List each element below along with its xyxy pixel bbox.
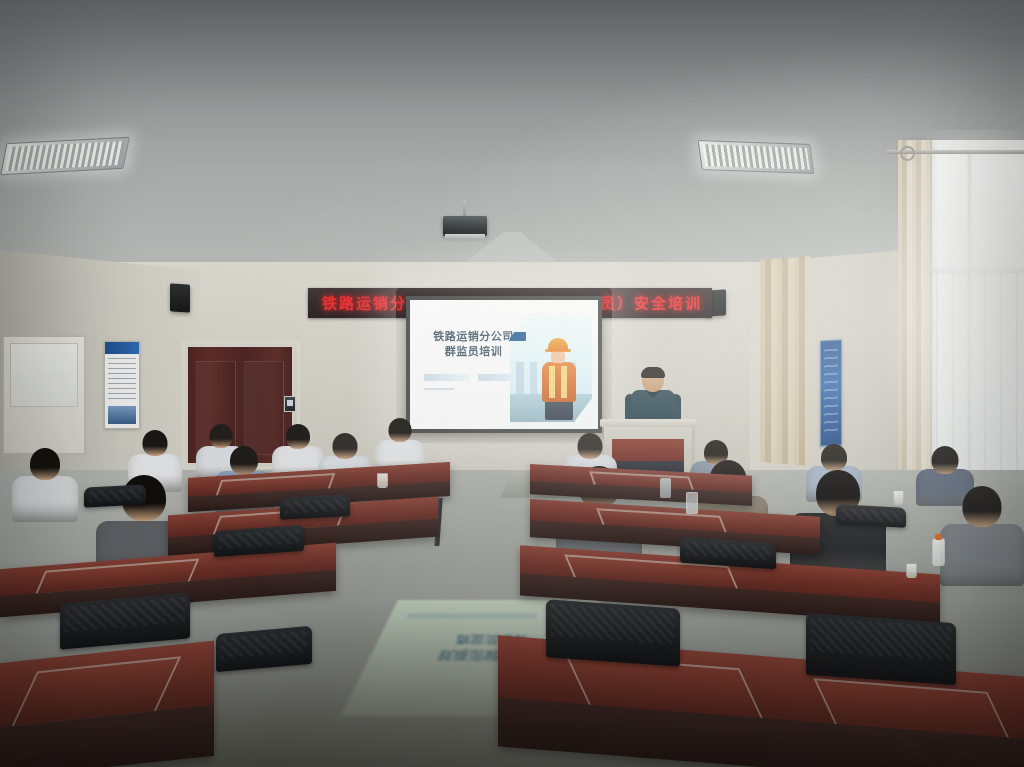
person-torso [940,524,1024,586]
chair[interactable] [280,494,350,520]
worker-legs [545,400,573,420]
person-head [963,486,1002,527]
wall-speaker-left [170,283,190,312]
wall-notice-poster [104,341,140,429]
training-room-photo: 铁路运销分 员）安全培训 铁路运销分公司 群监员培训 [0,0,1024,767]
audience-person [940,486,1024,586]
chair[interactable] [836,504,906,528]
ceiling-light-left [0,137,130,175]
chair[interactable] [546,599,680,666]
worker-vest-stripe-right [561,366,567,398]
worker-helmet [548,338,568,351]
blue-roll-up-banner [820,339,842,446]
ceiling-light-right [698,140,815,174]
slide-rule [424,388,454,390]
chair[interactable] [84,484,146,507]
worker-body [542,362,576,402]
presentation-slide: 铁路运销分公司 群监员培训 [410,300,598,429]
person-head [821,444,847,471]
worker-face [551,351,565,363]
podium-red-band [612,439,684,461]
person-head [286,424,310,449]
person-head [143,430,168,456]
poster-header [105,342,139,354]
person-head [932,446,959,474]
person-head [389,418,412,442]
chair[interactable] [806,613,956,685]
poster-image [108,406,136,424]
reflection-chip [406,613,537,619]
worker-vest-stripe-left [549,366,555,398]
audience-person [12,448,78,522]
curtain-ring [900,146,915,161]
slide-illustration [510,314,592,422]
person-torso [12,476,78,522]
paper-cup [377,473,388,488]
slide-chip-1 [424,374,470,381]
podium-top [600,419,696,427]
curtain-far-right [760,256,810,466]
presenter-hair [641,367,665,378]
worker-figure [536,336,582,420]
thermos-flask [660,478,671,498]
person-head [210,424,233,448]
person-head [30,448,60,480]
water-glass [686,492,698,514]
desk-foreground-left [0,641,214,767]
banner-text-right: 员）安全培训 [600,293,702,314]
wall-control-panel[interactable] [284,396,296,412]
banner-text-left: 铁路运销分 [322,293,407,314]
water-bottle [932,538,945,566]
projection-screen: 铁路运销分公司 群监员培训 [406,296,602,433]
slide-subtitle-chips [424,374,524,381]
ceiling-projector [443,216,487,236]
person-head [333,433,358,459]
person-head [578,433,603,459]
person-head [230,446,258,475]
paper-cup [893,490,904,505]
paper-cup [906,563,917,578]
poster-text-lines [108,358,136,402]
left-cabinet [2,335,86,455]
